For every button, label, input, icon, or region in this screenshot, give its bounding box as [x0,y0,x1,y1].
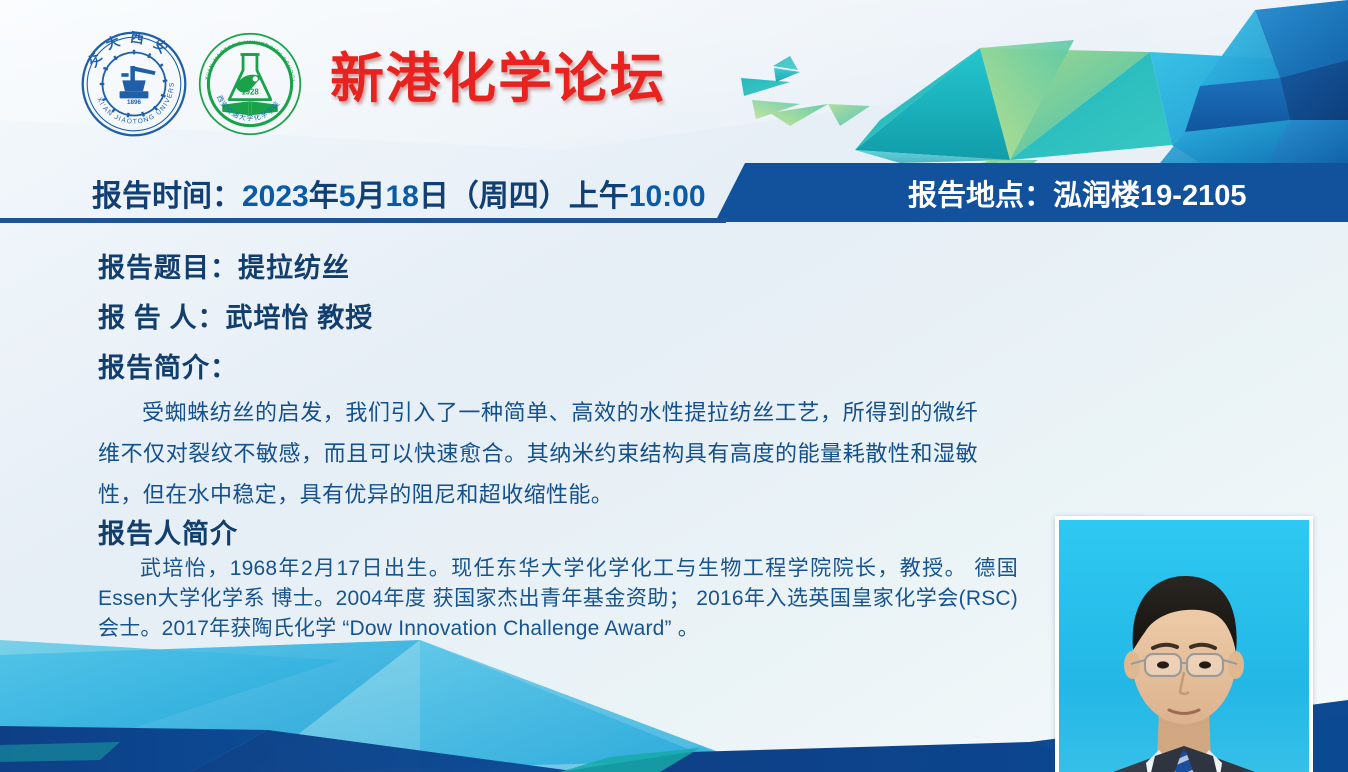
talk-topic-value: 提拉纺丝 [238,253,350,283]
school-of-chemistry-logo: 1928 XI'AN JIAOTONG UNIVERSITY SCHOOL OF… [198,32,302,136]
svg-text:1896: 1896 [127,99,142,106]
info-band: 报告时间：2023年5月18日（周四）上午10:00 报告地点：泓润楼19-21… [0,163,1348,222]
talk-location-room: 19-2105 [1140,180,1246,212]
svg-text:1928: 1928 [241,87,259,96]
abstract-text: 受蜘蛛纺丝的启发，我们引入了一种简单、高效的水性提拉纺丝工艺，所得到的微纤维不仅… [98,392,978,515]
abstract-heading: 报告简介： [98,346,238,385]
seminar-poster: 1896 XI'AN JIAOTONG UNIVERSITY 交大西安 [0,0,1348,772]
talk-time-clock: 10:00 [629,180,706,213]
talk-time-year: 2023 [242,180,309,213]
speaker-portrait-frame [1055,516,1313,772]
talk-topic-label: 报告题目： [98,253,238,283]
talk-time-sep3: 日（周四）上午 [419,180,629,213]
talk-time: 报告时间：2023年5月18日（周四）上午10:00 [92,171,706,215]
talk-topic-line: 报告题目：提拉纺丝 [98,246,350,285]
talk-time-sep1: 年 [309,180,339,213]
speaker-portrait [1059,520,1309,772]
talk-time-sep2: 月 [355,180,385,213]
talk-time-day: 18 [385,180,418,213]
talk-location-building: 泓润楼 [1053,180,1140,212]
talk-speaker-value: 武培怡 教授 [226,303,374,333]
talk-speaker-label: 报 告 人： [98,303,226,333]
talk-location: 报告地点：泓润楼19-2105 [908,172,1246,214]
talk-speaker-line: 报 告 人：武培怡 教授 [98,296,373,335]
forum-title: 新港化学论坛 [330,34,666,113]
poster-header: 1896 XI'AN JIAOTONG UNIVERSITY 交大西安 [0,0,1348,163]
xjtu-logo: 1896 XI'AN JIAOTONG UNIVERSITY 交大西安 [80,30,188,138]
talk-time-month: 5 [339,180,356,213]
talk-location-label: 报告地点： [908,180,1053,212]
poster-content: 报告题目：提拉纺丝 报 告 人：武培怡 教授 报告简介： 受蜘蛛纺丝的启发，我们… [0,222,1348,652]
bio-heading: 报告人简介 [98,512,238,551]
talk-time-label: 报告时间： [92,180,242,213]
svg-text:交大西安: 交大西安 [84,30,178,70]
bio-text: 武培怡，1968年2月17日出生。现任东华大学化学化工与生物工程学院院长，教授。… [98,554,1018,644]
